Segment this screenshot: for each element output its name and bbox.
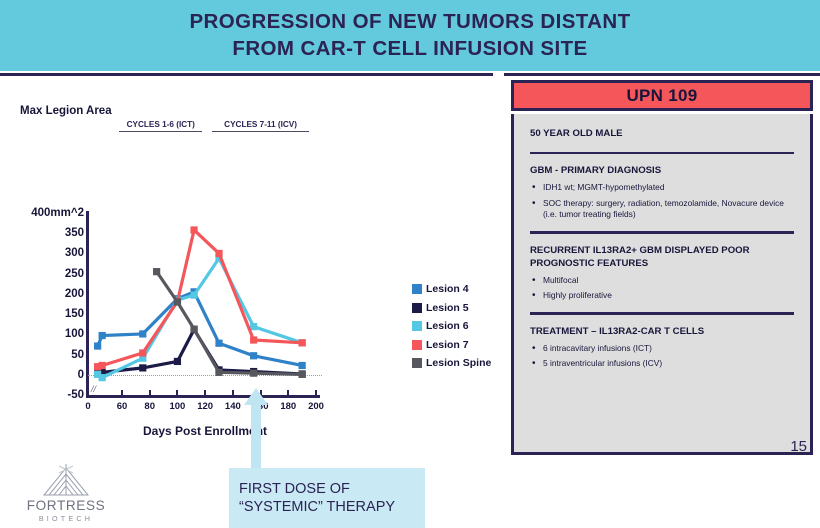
x-axis-tick-mark [287,390,289,395]
x-axis-tick-label: 0 [85,401,90,412]
y-axis-tick-label: 200 [0,288,84,300]
x-axis-tick-mark [315,390,317,395]
data-point-marker [174,358,181,365]
data-point-marker [250,370,257,377]
info-section-bullets: 6 intracavitary infusions (ICT)5 intrave… [530,343,794,370]
data-point-marker [139,330,146,337]
legend-item-lesion-5[interactable]: Lesion 5 [412,302,491,314]
info-section-heading: RECURRENT IL13RA2+ GBM DISPLAYED POOR PR… [530,245,794,271]
info-bullet: 6 intracavitary infusions (ICT) [530,343,794,354]
data-point-marker [250,323,257,330]
x-axis-tick-mark [176,390,178,395]
callout-line-2: “SYSTEMIC” THERAPY [239,498,425,516]
legend-swatch-icon [412,340,422,350]
callout-arrow-icon [242,388,270,470]
section-divider [530,152,794,155]
y-axis-tick: -50 [0,395,84,407]
data-point-marker [139,364,146,371]
y-axis-tick: 200 [0,294,84,306]
section-divider [530,231,794,234]
legend-item-label: Lesion 5 [426,302,469,314]
data-point-marker [190,325,197,332]
x-axis-tick-mark [121,390,123,395]
logo-subtitle: BIOTECH [14,514,118,523]
legend-swatch-icon [412,358,422,368]
legend-item-lesion-4[interactable]: Lesion 4 [412,283,491,295]
x-axis-tick-mark [204,390,206,395]
data-point-marker [215,369,222,376]
x-axis-tick-label: 80 [144,401,155,412]
data-point-marker [99,332,106,339]
data-point-marker [250,352,257,359]
page-title-line1: PROGRESSION OF NEW TUMORS DISTANT [189,10,630,33]
y-axis-tick-label: 100 [0,328,84,340]
page-title: PROGRESSION OF NEW TUMORS DISTANT FROM C… [189,9,630,61]
y-axis-tick: 100 [0,334,84,346]
data-point-marker [99,362,106,369]
y-axis-tick: 350 [0,233,84,245]
callout-line-1: FIRST DOSE OF [239,480,425,498]
upn-header: UPN 109 [511,80,813,111]
data-point-marker [215,250,222,257]
y-axis-tick: 50 [0,355,84,367]
y-axis-tick: 150 [0,314,84,326]
y-axis-tick-label: 50 [0,349,84,361]
fortress-mountain-icon [14,464,118,498]
data-point-marker [174,298,181,305]
y-axis-tick: 0 [0,375,84,387]
x-axis-tick-label: 120 [197,401,213,412]
y-axis-tick-label: 400mm^2 [0,207,84,219]
info-section: GBM - PRIMARY DIAGNOSISIDH1 wt; MGMT-hyp… [530,165,794,220]
data-point-marker [99,374,106,381]
data-point-marker [215,340,222,347]
callout-first-dose: FIRST DOSE OF “SYSTEMIC” THERAPY [229,468,425,528]
y-axis-tick-label: 250 [0,268,84,280]
patient-descriptor: 50 YEAR OLD MALE [530,128,794,141]
legend-item-label: Lesion 7 [426,339,469,351]
info-bullet: IDH1 wt; MGMT-hypomethylated [530,182,794,193]
info-bullet: Highly proliferative [530,290,794,301]
logo-wordmark: FORTRESS [14,498,118,513]
info-section-bullets: IDH1 wt; MGMT-hypomethylatedSOC therapy:… [530,182,794,220]
x-axis-tick-label: 200 [308,401,324,412]
chart-panel: Max Legion Area CYCLES 1-6 (ICT) CYCLES … [0,73,493,461]
slide-number: 15 [790,438,807,455]
fortress-biotech-logo: FORTRESS BIOTECH [14,464,118,526]
data-point-marker [299,339,306,346]
x-axis-tick-mark [149,390,151,395]
info-bullet: Multifocal [530,275,794,286]
upn-header-label: UPN 109 [626,86,697,106]
series-line-lesion-7 [98,230,303,367]
y-axis-tick: 250 [0,274,84,286]
y-axis-tick: 300 [0,253,84,265]
info-section: TREATMENT – IL13RA2-CAR T CELLS6 intraca… [530,326,794,370]
x-axis-tick-label: 100 [169,401,185,412]
info-sections: GBM - PRIMARY DIAGNOSISIDH1 wt; MGMT-hyp… [530,152,794,370]
title-banner: PROGRESSION OF NEW TUMORS DISTANT FROM C… [0,0,820,71]
data-point-marker [139,349,146,356]
legend-item-label: Lesion Spine [426,357,491,369]
chart-legend: Lesion 4Lesion 5Lesion 6Lesion 7Lesion S… [412,283,491,376]
x-axis-tick-label: 180 [280,401,296,412]
info-section-heading: TREATMENT – IL13RA2-CAR T CELLS [530,326,794,339]
info-panel-body: 50 YEAR OLD MALE GBM - PRIMARY DIAGNOSIS… [511,114,813,455]
info-section-bullets: MultifocalHighly proliferative [530,275,794,302]
info-section-heading: GBM - PRIMARY DIAGNOSIS [530,165,794,178]
section-divider [530,312,794,315]
legend-item-lesion-7[interactable]: Lesion 7 [412,339,491,351]
y-axis-tick-label: 150 [0,308,84,320]
x-axis-tick-label: 60 [117,401,128,412]
data-point-marker [299,371,306,378]
legend-item-label: Lesion 4 [426,283,469,295]
data-point-marker [250,336,257,343]
page-title-line2: FROM CAR-T CELL INFUSION SITE [232,37,587,60]
info-section: RECURRENT IL13RA2+ GBM DISPLAYED POOR PR… [530,245,794,302]
chart-x-axis-title: Days Post Enrollment [0,424,410,438]
y-axis-tick-label: 350 [0,227,84,239]
info-bullet: 5 intraventricular infusions (ICV) [530,358,794,369]
data-point-marker [190,292,197,299]
y-axis-tick: 400mm^2 [0,213,84,225]
info-panel: UPN 109 50 YEAR OLD MALE GBM - PRIMARY D… [504,73,820,461]
legend-swatch-icon [412,303,422,313]
legend-swatch-icon [412,321,422,331]
data-point-marker [190,226,197,233]
series-line-lesion-4 [98,292,303,366]
legend-item-label: Lesion 6 [426,320,469,332]
legend-item-lesion-spine[interactable]: Lesion Spine [412,357,491,369]
legend-item-lesion-6[interactable]: Lesion 6 [412,320,491,332]
info-bullet: SOC therapy: surgery, radiation, temozol… [530,198,794,221]
x-axis-tick-mark [232,390,234,395]
y-axis-tick-label: 0 [0,369,84,381]
y-axis-tick-label: 300 [0,247,84,259]
x-axis-tick-label: 140 [225,401,241,412]
data-point-marker [94,342,101,349]
legend-swatch-icon [412,284,422,294]
data-point-marker [153,268,160,275]
y-axis-tick-label: -50 [0,389,84,401]
data-point-marker [299,362,306,369]
